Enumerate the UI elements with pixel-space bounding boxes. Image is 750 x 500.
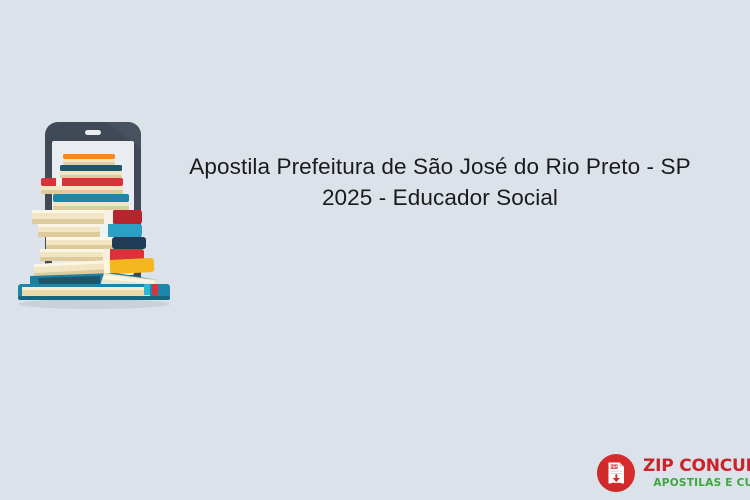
brand-logo[interactable]: PDF ZIP CONCURSOS APOSTILAS E CURSOS	[596, 450, 744, 496]
stack-of-books-illustration	[8, 118, 178, 313]
product-image-card: Apostila Prefeitura de São José do Rio P…	[0, 0, 750, 500]
brand-name: ZIP CONCURSOS	[643, 457, 750, 476]
pdf-download-icon: PDF	[596, 453, 636, 493]
shadow-ellipse	[18, 299, 170, 309]
brand-wordmark: ZIP CONCURSOS APOSTILAS E CURSOS	[643, 457, 750, 490]
book-orange-top	[63, 154, 115, 165]
svg-text:PDF: PDF	[610, 465, 617, 469]
book-teal-dark-upper	[60, 165, 122, 178]
book-blue-mid	[38, 224, 142, 237]
brand-tagline: APOSTILAS E CURSOS	[643, 476, 750, 490]
book-navy	[46, 237, 146, 249]
book-red-dark-wide	[32, 210, 142, 224]
book-red-upper	[41, 178, 123, 194]
book-teal-base	[18, 284, 170, 300]
product-title: Apostila Prefeitura de São José do Rio P…	[180, 151, 700, 213]
book-teal-wide	[53, 194, 129, 210]
